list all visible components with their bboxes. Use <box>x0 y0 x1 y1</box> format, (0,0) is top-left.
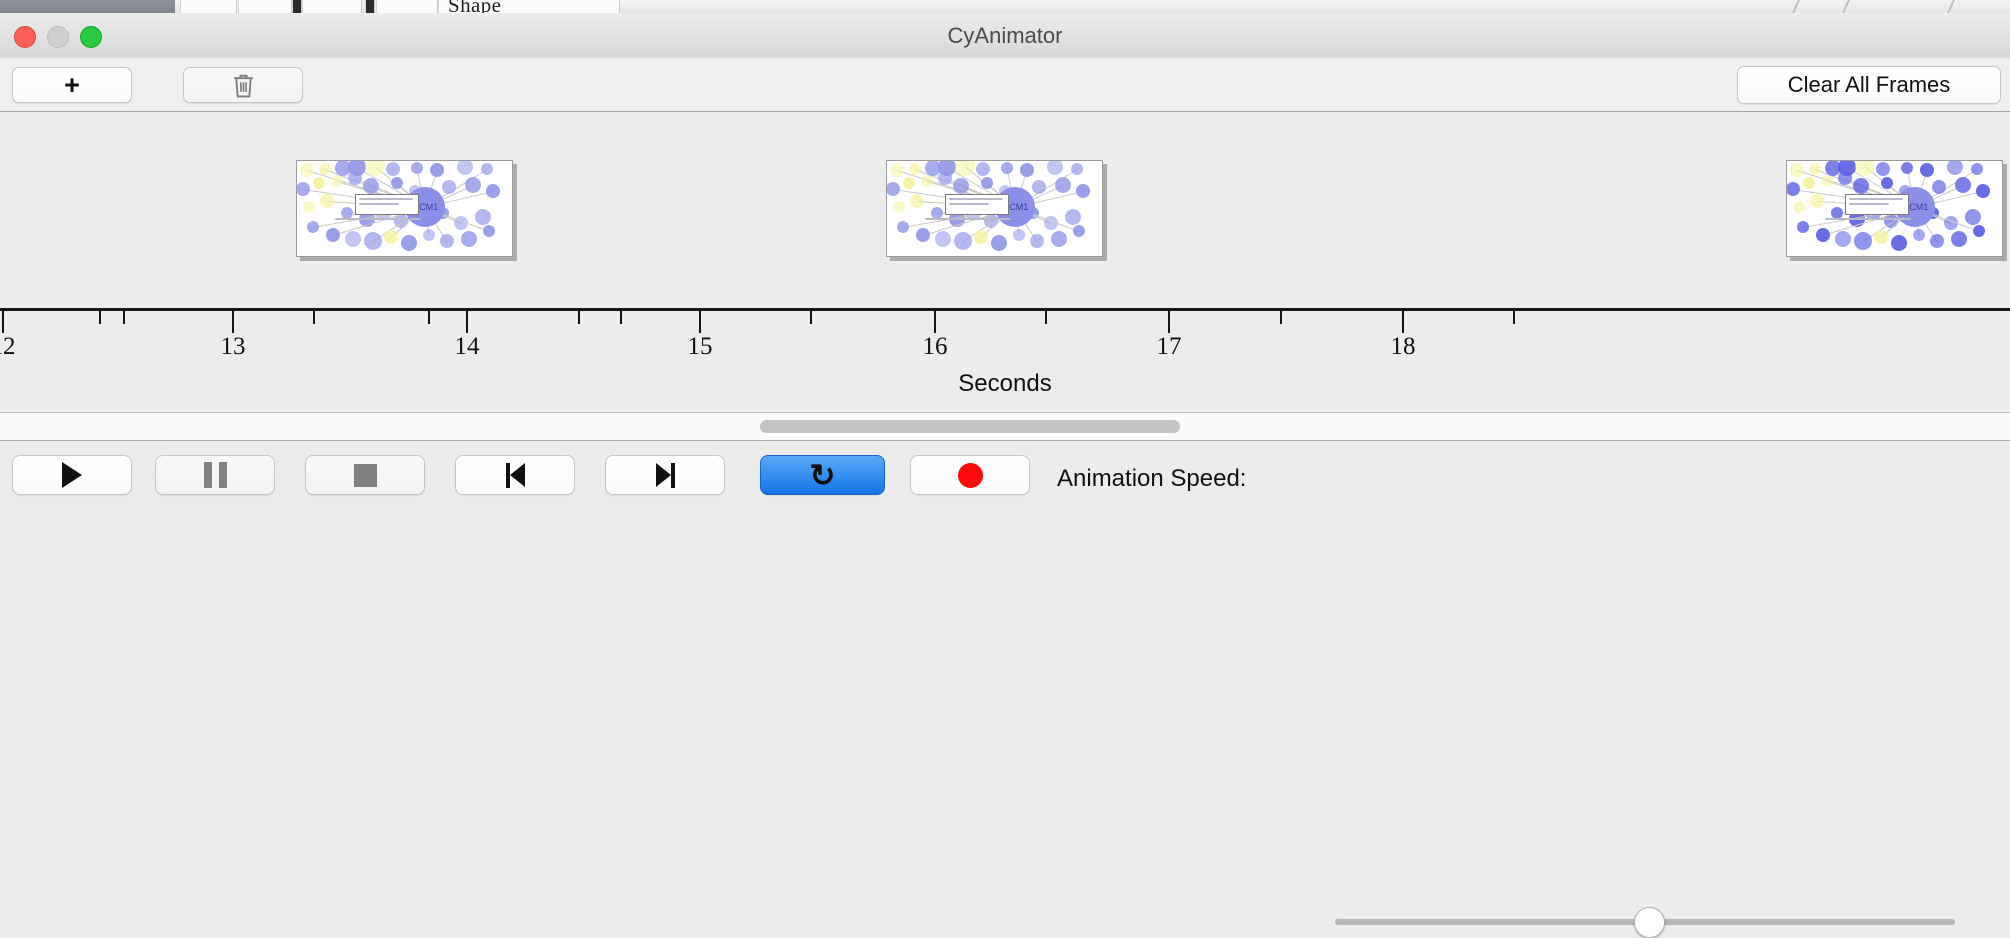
pause-button[interactable] <box>155 455 275 495</box>
network-node <box>1020 163 1034 177</box>
network-node <box>1835 231 1851 247</box>
network-node <box>386 162 400 176</box>
toolbar: + Clear All Frames <box>0 58 2010 112</box>
network-node <box>909 163 921 175</box>
network-node <box>384 230 398 244</box>
axis-tick-label: 12 <box>0 333 16 361</box>
network-node <box>320 194 334 208</box>
network-annotation-text <box>949 198 1003 200</box>
network-node <box>364 232 382 250</box>
network-node <box>1951 231 1967 247</box>
axis-tick <box>123 311 125 324</box>
network-node <box>1065 209 1081 225</box>
network-node <box>401 235 417 251</box>
clear-all-frames-button[interactable]: Clear All Frames <box>1737 66 2001 104</box>
network-node <box>363 178 379 194</box>
network-node <box>1030 234 1044 248</box>
background-chip <box>292 0 302 13</box>
network-node <box>1930 234 1944 248</box>
network-node <box>331 175 343 187</box>
playback-bar: ↻ Animation Speed: <box>0 441 2010 510</box>
axis-tick <box>1513 311 1515 324</box>
network-node <box>307 221 319 233</box>
network-node <box>1913 229 1925 241</box>
axis-tick-label: 15 <box>688 333 713 361</box>
network-node <box>348 171 362 185</box>
background-tick <box>1842 0 1850 13</box>
axis-tick <box>620 311 622 324</box>
background-chip <box>376 0 438 13</box>
network-thumbnail-graph: MCM1 <box>297 161 512 256</box>
axis-tick <box>1280 311 1282 324</box>
network-node <box>442 180 456 194</box>
timeline-scrollbar[interactable] <box>0 413 2010 441</box>
loop-button[interactable]: ↻ <box>760 455 885 495</box>
network-node <box>300 163 314 177</box>
axis-tick <box>232 311 234 333</box>
network-node <box>991 235 1007 251</box>
network-node <box>313 177 325 189</box>
network-node <box>440 234 454 248</box>
axis-tick-label: 16 <box>923 333 948 361</box>
network-node <box>1881 177 1893 189</box>
network-node <box>1901 162 1913 174</box>
network-thumbnail-graph: MCM1 <box>1787 161 2002 256</box>
network-node <box>483 225 495 237</box>
network-node <box>1803 177 1815 189</box>
network-node <box>486 184 500 198</box>
axis-title: Seconds <box>0 370 2010 398</box>
background-chip <box>302 0 362 13</box>
traffic-lights <box>14 26 102 48</box>
network-annotation-text <box>1825 218 1911 220</box>
network-node <box>953 178 969 194</box>
axis-tick-label: 18 <box>1391 333 1416 361</box>
timeline-frame[interactable]: MCM1 <box>1786 160 2003 257</box>
network-node <box>1947 160 1963 175</box>
network-node <box>1790 163 1804 177</box>
network-node <box>319 163 331 175</box>
axis-tick-label: 17 <box>1157 333 1182 361</box>
background-tick <box>1947 0 1955 13</box>
network-thumbnail-graph: MCM1 <box>887 161 1102 256</box>
network-node <box>1793 201 1805 213</box>
timeline-axis <box>0 308 2010 311</box>
network-node <box>897 221 909 233</box>
background-windows-strip: Shape <box>0 0 2010 13</box>
network-node <box>475 209 491 225</box>
delete-frame-button[interactable] <box>183 67 303 103</box>
background-chip <box>238 0 292 13</box>
axis-tick-label: 14 <box>455 333 480 361</box>
network-node <box>1965 209 1981 225</box>
network-node <box>910 194 924 208</box>
axis-tick <box>428 311 430 324</box>
network-node <box>903 177 915 189</box>
axis-tick <box>1168 311 1170 333</box>
network-node <box>1013 229 1025 241</box>
title-bar[interactable]: CyAnimator <box>0 13 2010 59</box>
network-node <box>886 182 900 196</box>
network-node <box>345 231 361 247</box>
minimize-button[interactable] <box>47 26 69 48</box>
network-node <box>461 231 477 247</box>
stop-icon <box>354 464 377 487</box>
animation-speed-slider-thumb[interactable] <box>1634 907 1665 938</box>
network-node <box>1810 194 1824 208</box>
trash-icon <box>231 72 256 99</box>
skip-to-start-button[interactable] <box>455 455 575 495</box>
network-node <box>1073 225 1085 237</box>
axis-tick <box>578 311 580 324</box>
network-node <box>916 228 930 242</box>
network-node <box>1920 163 1934 177</box>
network-node <box>974 230 988 244</box>
axis-tick <box>934 311 936 333</box>
network-node <box>1891 235 1907 251</box>
network-node <box>1051 231 1067 247</box>
close-button[interactable] <box>14 26 36 48</box>
loop-icon: ↻ <box>810 460 836 491</box>
axis-tick <box>810 311 812 324</box>
network-node <box>981 177 993 189</box>
network-node <box>1955 177 1971 193</box>
network-node <box>457 160 473 175</box>
network-node <box>1816 228 1830 242</box>
network-node <box>938 171 952 185</box>
axis-tick <box>313 311 315 324</box>
background-window-dark <box>0 0 175 13</box>
cyanimator-window: Shape CyAnimator + Clear All Frames 1 <box>0 0 2010 510</box>
network-annotation-text <box>949 203 989 205</box>
network-node <box>1076 184 1090 198</box>
network-node <box>1821 175 1833 187</box>
stop-button[interactable] <box>305 455 425 495</box>
network-annotation-text <box>359 198 413 200</box>
axis-tick <box>2 311 4 333</box>
window-title: CyAnimator <box>0 13 2010 58</box>
record-button[interactable] <box>910 455 1030 495</box>
plus-icon: + <box>64 72 80 99</box>
network-node <box>1001 162 1013 174</box>
network-node <box>1809 163 1821 175</box>
add-frame-button[interactable]: + <box>12 67 132 103</box>
network-node <box>1055 177 1071 193</box>
axis-tick <box>1402 311 1404 333</box>
network-node <box>303 201 315 213</box>
play-button[interactable] <box>12 455 132 495</box>
timeline-panel[interactable]: 12131415161718 MCM1MCM1MCM1 Seconds <box>0 112 2010 413</box>
timeline-frame[interactable]: MCM1 <box>886 160 1103 257</box>
network-node <box>430 163 444 177</box>
network-node <box>1797 221 1809 233</box>
network-annotation-text <box>925 218 1011 220</box>
network-node <box>935 231 951 247</box>
network-node <box>1786 182 1800 196</box>
axis-tick <box>1045 311 1047 324</box>
network-node <box>1047 160 1063 175</box>
background-chip <box>180 0 237 13</box>
network-node <box>296 182 310 196</box>
background-tick <box>1792 0 1800 13</box>
clear-all-frames-label: Clear All Frames <box>1788 72 1951 98</box>
background-shape-label: Shape <box>448 0 501 13</box>
skip-start-icon <box>506 463 525 488</box>
play-icon <box>62 462 82 488</box>
network-node <box>1853 178 1869 194</box>
network-node <box>1874 230 1888 244</box>
network-node <box>391 177 403 189</box>
network-node <box>976 162 990 176</box>
network-node <box>465 177 481 193</box>
network-node <box>423 229 435 241</box>
network-node <box>1973 225 1985 237</box>
network-node <box>481 163 493 175</box>
network-node <box>1854 232 1872 250</box>
network-annotation-text <box>1849 198 1903 200</box>
network-node <box>954 232 972 250</box>
pause-icon <box>204 462 227 488</box>
network-node <box>1838 171 1852 185</box>
background-chip <box>365 0 375 13</box>
skip-end-icon <box>656 463 675 488</box>
network-annotation-text <box>335 218 421 220</box>
network-node <box>890 163 904 177</box>
network-node <box>1876 162 1890 176</box>
axis-tick-label: 13 <box>221 333 246 361</box>
network-node <box>1976 184 1990 198</box>
network-node <box>921 175 933 187</box>
network-node <box>411 162 423 174</box>
timeline-frame[interactable]: MCM1 <box>296 160 513 257</box>
animation-speed-label: Animation Speed: <box>1057 465 1246 493</box>
axis-tick <box>699 311 701 333</box>
axis-tick <box>99 311 101 324</box>
network-node <box>326 228 340 242</box>
network-annotation-text <box>359 203 399 205</box>
record-icon <box>958 463 983 488</box>
network-annotation-text <box>1849 203 1889 205</box>
network-node <box>1932 180 1946 194</box>
network-node <box>1971 163 1983 175</box>
scrollbar-thumb[interactable] <box>760 420 1180 433</box>
network-node <box>1071 163 1083 175</box>
network-node <box>893 201 905 213</box>
network-node <box>1032 180 1046 194</box>
skip-to-end-button[interactable] <box>605 455 725 495</box>
zoom-button[interactable] <box>80 26 102 48</box>
axis-tick <box>466 311 468 333</box>
